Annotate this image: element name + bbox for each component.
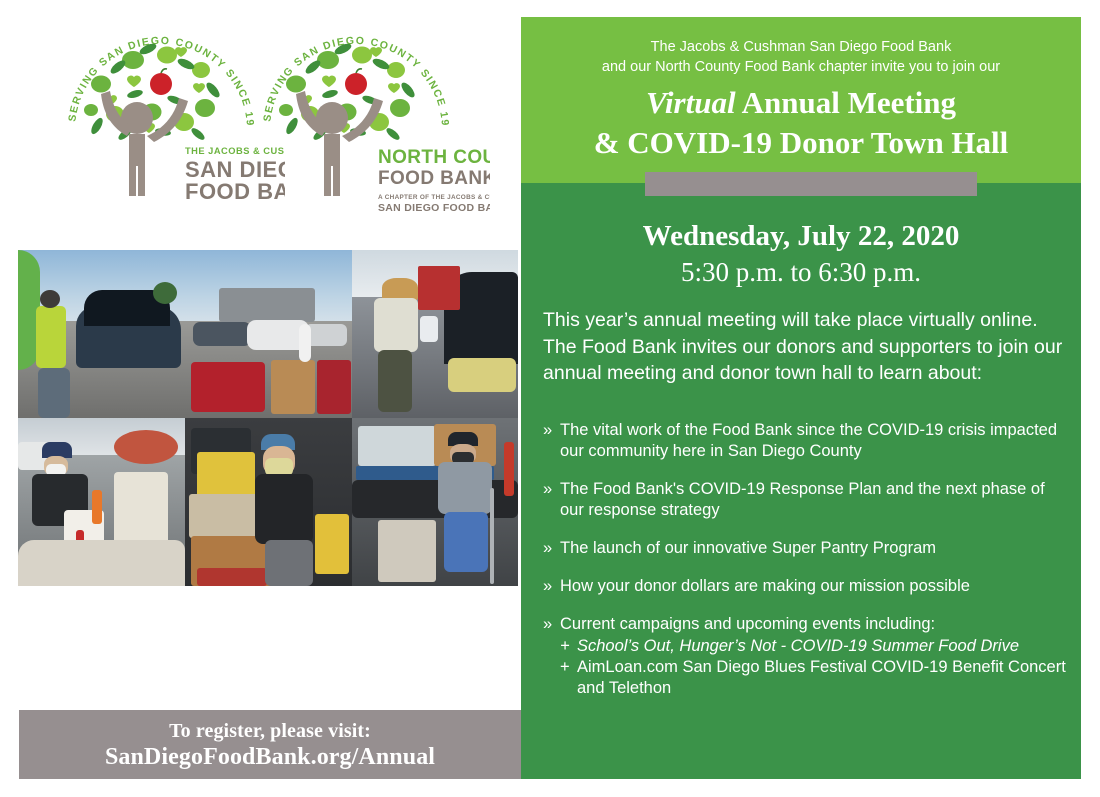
header-intro-line-2: and our North County Food Bank chapter i… (521, 57, 1081, 77)
sub-list-item-text: School’s Out, Hunger’s Not - COVID-19 Su… (577, 637, 1019, 655)
photo-woman-loading-hatchback (352, 250, 518, 418)
list-item: » The Food Bank's COVID-19 Response Plan… (543, 479, 1073, 521)
photo-volunteer-head (40, 290, 60, 308)
photo-red-food-bags (191, 362, 265, 412)
photo-red-crates (418, 266, 460, 310)
page-title: Virtual Annual Meeting & COVID-19 Donor … (521, 83, 1081, 163)
sub-list-item: + AimLoan.com San Diego Blues Festival C… (560, 657, 1073, 699)
photo-yellow-crate (197, 452, 255, 500)
intro-paragraph: This year’s annual meeting will take pla… (543, 307, 1071, 387)
photo-traffic-cone (92, 490, 102, 524)
photo-open-trunk-lid (114, 472, 168, 550)
photo-car (305, 324, 347, 346)
photo-tomatoes (197, 568, 267, 586)
list-item-text: The launch of our innovative Super Pantr… (560, 539, 936, 557)
photo-stacked-goods (358, 426, 436, 466)
register-url[interactable]: SanDiegoFoodBank.org/Annual (105, 743, 435, 771)
sub-list-item-text: AimLoan.com San Diego Blues Festival COV… (577, 658, 1066, 697)
list-item-text: The vital work of the Food Bank since th… (560, 421, 1057, 460)
photo-tree (153, 282, 177, 304)
ncfb-sub2: SAN DIEGO FOOD BANK (378, 202, 490, 214)
bullet-list: » The vital work of the Food Bank since … (543, 420, 1073, 716)
photo-volunteer-pants (265, 540, 313, 586)
photo-masked-volunteer-produce (185, 418, 352, 586)
list-item: » Current campaigns and upcoming events … (543, 614, 1073, 699)
photo-yellow-equipment (315, 514, 349, 574)
list-item: » How your donor dollars are making our … (543, 576, 1073, 597)
photo-chain (490, 488, 494, 584)
logo-row: SERVING SAN DIEGO COUNTY SINCE 1977 (55, 22, 515, 222)
photo-volunteer-loading-car-trunk (18, 250, 185, 418)
list-item-text: Current campaigns and upcoming events in… (560, 615, 935, 633)
list-item: » The vital work of the Food Bank since … (543, 420, 1073, 462)
person-figure (101, 91, 188, 196)
chevron-double-right-icon: » (543, 576, 552, 597)
title-word-virtual: Virtual (646, 85, 736, 120)
photo-volunteer-legs (38, 368, 70, 418)
photo-volunteer-shirt (255, 474, 313, 544)
header-intro-line-1: The Jacobs & Cushman San Diego Food Bank (521, 37, 1081, 57)
photo-wrapped-pallet (378, 520, 436, 582)
photo-red-food-bags-2 (317, 360, 351, 414)
photo-grid (18, 250, 518, 586)
north-county-food-bank-logo: SERVING SAN DIEGO COUNTY SINCE 1977 (250, 22, 490, 222)
photo-stadium-parking-lot (185, 250, 352, 418)
photo-masked-man-loading-bag (18, 418, 185, 586)
sub-list: + School’s Out, Hunger’s Not - COVID-19 … (560, 636, 1073, 699)
list-item-text: How your donor dollars are making our mi… (560, 577, 970, 595)
photo-worker-hoodie (438, 462, 492, 514)
title-line-1: Virtual Annual Meeting (521, 83, 1081, 123)
photo-worker-jeans (444, 512, 488, 572)
sub-list-item: + School’s Out, Hunger’s Not - COVID-19 … (560, 636, 1073, 657)
photo-volunteer-vest (36, 306, 66, 368)
photo-truck-lights (504, 442, 514, 496)
right-panel: The Jacobs & Cushman San Diego Food Bank… (521, 17, 1081, 779)
photo-suv (193, 322, 251, 346)
ncfb-sub1: A CHAPTER OF THE JACOBS & CUSHMAN (378, 194, 490, 201)
plus-icon: + (560, 636, 570, 657)
photo-cardboard-box (271, 360, 315, 414)
photo-white-panel (299, 324, 311, 362)
ncfb-line2: FOOD BANK (378, 168, 490, 189)
divider-bar (645, 172, 977, 196)
chevron-double-right-icon: » (543, 420, 552, 441)
photo-car-hood (18, 540, 185, 586)
list-item-text: The Food Bank's COVID-19 Response Plan a… (560, 480, 1045, 519)
list-item: » The launch of our innovative Super Pan… (543, 538, 1073, 559)
photo-woman-jacket (374, 298, 418, 352)
left-column: SERVING SAN DIEGO COUNTY SINCE 1977 (0, 0, 521, 797)
header-intro: The Jacobs & Cushman San Diego Food Bank… (521, 37, 1081, 77)
plus-icon: + (560, 657, 570, 678)
photo-worker-loading-pallet (352, 418, 518, 586)
person-figure (296, 91, 383, 196)
photo-milk-jug (420, 316, 438, 342)
register-prompt: To register, please visit: (169, 719, 371, 743)
photo-woman-pants (378, 350, 412, 412)
title-line-2: & COVID-19 Donor Town Hall (521, 123, 1081, 163)
chevron-double-right-icon: » (543, 614, 552, 635)
ncfb-logo-graphic: SERVING SAN DIEGO COUNTY SINCE 1977 (250, 22, 490, 222)
photo-stadium (219, 288, 315, 322)
event-date: Wednesday, July 22, 2020 (521, 219, 1081, 253)
register-bar[interactable]: To register, please visit: SanDiegoFoodB… (19, 710, 521, 779)
title-rest: Annual Meeting (736, 85, 956, 120)
chevron-double-right-icon: » (543, 479, 552, 500)
photo-cardboard-box (189, 494, 261, 538)
event-time: 5:30 p.m. to 6:30 p.m. (521, 256, 1081, 288)
chevron-double-right-icon: » (543, 538, 552, 559)
ncfb-line1: NORTH COUNTY (378, 147, 490, 168)
photo-produce (448, 358, 516, 392)
photo-flower-bush (114, 430, 178, 464)
